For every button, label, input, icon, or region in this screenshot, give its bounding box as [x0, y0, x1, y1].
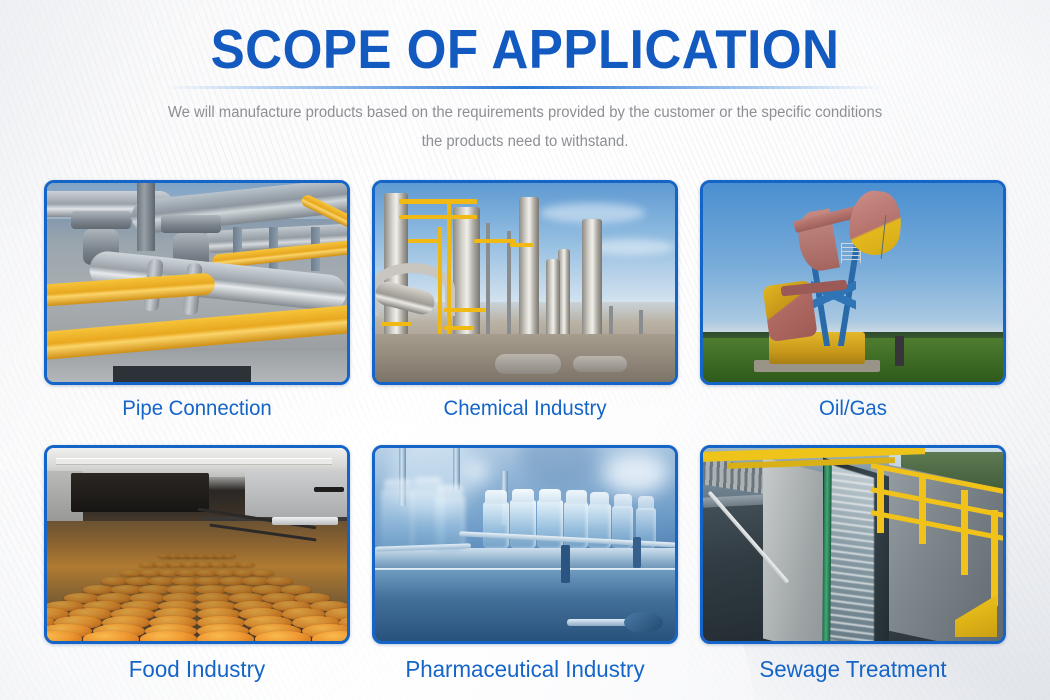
application-card-sewage-treatment[interactable]: Sewage Treatment — [700, 445, 1006, 680]
card-frame[interactable] — [44, 180, 350, 385]
card-frame[interactable] — [44, 445, 350, 644]
card-frame[interactable] — [372, 445, 678, 644]
pipe-connection-photo — [47, 183, 347, 382]
oil-gas-photo — [703, 183, 1003, 382]
pharmaceutical-industry-photo — [375, 448, 675, 641]
card-frame[interactable] — [700, 180, 1006, 385]
application-card-oil-gas[interactable]: Oil/Gas — [700, 180, 1006, 419]
sewage-treatment-photo — [703, 448, 1003, 641]
card-caption: Food Industry — [49, 644, 346, 680]
card-caption: Chemical Industry — [377, 385, 674, 419]
card-caption: Pharmaceutical Industry — [377, 644, 674, 680]
application-row-2: Food Industry — [44, 445, 1008, 680]
page-subtitle: We will manufacture products based on th… — [103, 98, 948, 156]
page-title: SCOPE OF APPLICATION — [37, 22, 1014, 77]
application-grid: Pipe Connection — [44, 180, 1008, 680]
application-card-pharmaceutical-industry[interactable]: Pharmaceutical Industry — [372, 445, 678, 680]
card-frame[interactable] — [372, 180, 678, 385]
subtitle-line-2: the products need to withstand. — [103, 127, 948, 156]
card-caption: Pipe Connection — [49, 385, 346, 419]
card-caption: Sewage Treatment — [705, 644, 1002, 680]
application-card-pipe-connection[interactable]: Pipe Connection — [44, 180, 350, 419]
chemical-industry-photo — [375, 183, 675, 382]
application-card-chemical-industry[interactable]: Chemical Industry — [372, 180, 678, 419]
scope-of-application-slide: SCOPE OF APPLICATION We will manufacture… — [0, 0, 1050, 700]
card-frame[interactable] — [700, 445, 1006, 644]
application-card-food-industry[interactable]: Food Industry — [44, 445, 350, 680]
header: SCOPE OF APPLICATION We will manufacture… — [0, 0, 1050, 172]
food-industry-photo — [47, 448, 347, 641]
title-underline — [165, 86, 885, 89]
application-row-1: Pipe Connection — [44, 180, 1008, 419]
card-caption: Oil/Gas — [705, 385, 1002, 419]
subtitle-line-1: We will manufacture products based on th… — [168, 104, 882, 121]
